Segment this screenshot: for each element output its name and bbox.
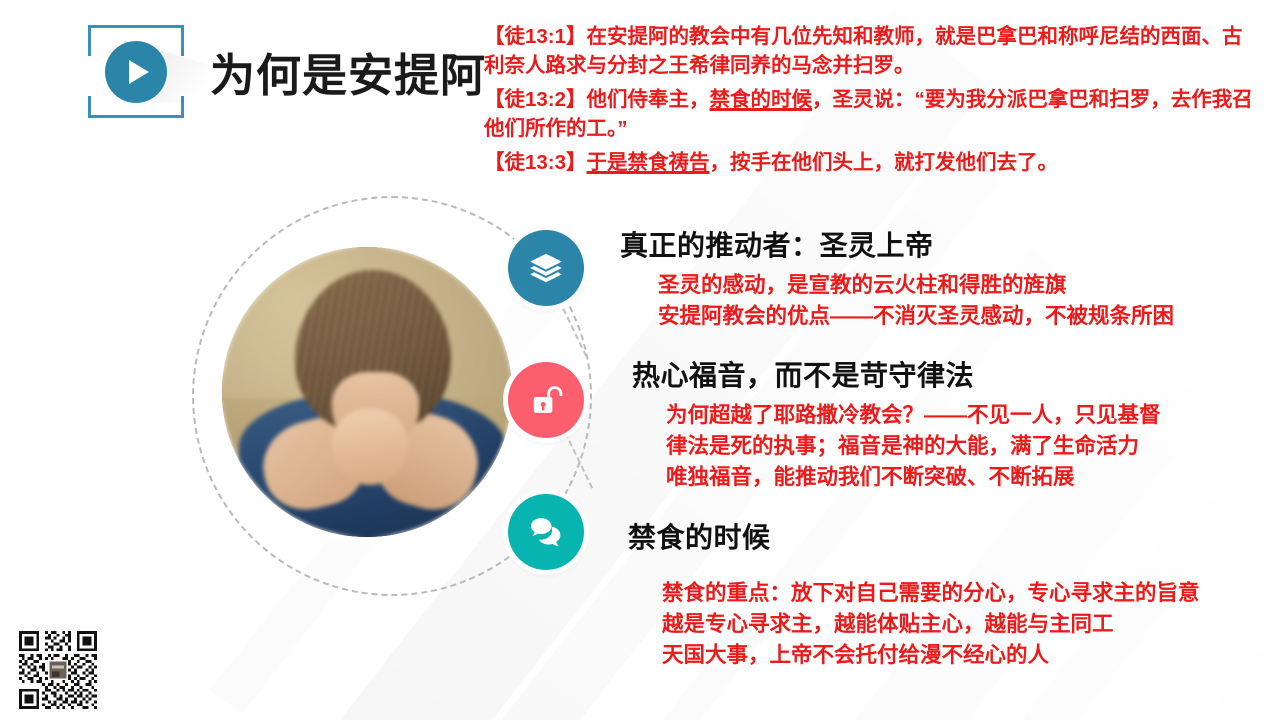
section-line: 天国大事，上帝不会托付给漫不经心的人 xyxy=(662,640,1200,671)
chat-bubbles-icon-glyph xyxy=(527,513,565,551)
logo-frame xyxy=(88,25,184,118)
section-line: 越是专心寻求主，越能体贴主心，越能与主同工 xyxy=(662,609,1200,640)
verse-ref: 【徒13:1】 xyxy=(484,25,587,48)
section-line: 为何超越了耶路撒冷教会？——不见一人，只见基督 xyxy=(666,400,1161,431)
chat-bubbles-icon[interactable] xyxy=(508,494,584,570)
page-title: 为何是安提阿 xyxy=(210,39,486,104)
section-line: 圣灵的感动，是宣教的云火柱和得胜的旌旗 xyxy=(658,270,1174,301)
play-triangle-icon xyxy=(129,60,149,84)
section-heading: 热心福音，而不是苛守律法 xyxy=(632,354,1161,394)
verse-ref: 【徒13:2】 xyxy=(484,88,587,111)
section-lines: 禁食的重点：放下对自己需要的分心，专心寻求主的旨意 越是专心寻求主，越能体贴主心… xyxy=(662,578,1200,672)
content-section: 真正的推动者：圣灵上帝 圣灵的感动，是宣教的云火柱和得胜的旌旗 安提阿教会的优点… xyxy=(616,224,1174,332)
verse-text-underlined: 于是禁食祷告 xyxy=(587,151,710,174)
scripture-verse: 【徒13:3】于是禁食祷告，按手在他们头上，就打发他们去了。 xyxy=(484,148,1254,177)
content-section: 热心福音，而不是苛守律法 为何超越了耶路撒冷教会？——不见一人，只见基督 律法是… xyxy=(616,354,1161,494)
section-heading: 禁食的时候 xyxy=(628,516,1200,556)
qr-code[interactable] xyxy=(16,628,100,712)
slide-canvas: 为何是安提阿 【徒13:1】在安提阿的教会中有几位先知和教师，就是巴拿巴和称呼尼… xyxy=(0,0,1280,720)
verse-ref: 【徒13:3】 xyxy=(484,151,587,174)
photo-artwork xyxy=(222,247,512,537)
slide-header: 为何是安提阿 xyxy=(88,25,486,118)
qr-code-glyph xyxy=(16,628,100,712)
praying-child-photo xyxy=(222,247,512,537)
content-section: 禁食的时候 禁食的重点：放下对自己需要的分心，专心寻求主的旨意 越是专心寻求主，… xyxy=(616,516,1200,672)
layers-icon-glyph xyxy=(527,249,565,287)
section-lines: 为何超越了耶路撒冷教会？——不见一人，只见基督 律法是死的执事；福音是神的大能，… xyxy=(666,400,1161,494)
unlock-icon-glyph xyxy=(527,381,565,419)
photo-blur-overlay xyxy=(222,247,512,537)
scripture-block: 【徒13:1】在安提阿的教会中有几位先知和教师，就是巴拿巴和称呼尼结的西面、古利… xyxy=(484,22,1254,183)
verse-text: 在安提阿的教会中有几位先知和教师，就是巴拿巴和称呼尼结的西面、古利奈人路求与分封… xyxy=(484,25,1243,77)
section-line: 安提阿教会的优点——不消灭圣灵感动，不被规条所困 xyxy=(658,301,1174,332)
verse-text-underlined: 禁食的时候 xyxy=(710,88,813,111)
section-heading: 真正的推动者：圣灵上帝 xyxy=(620,224,1174,264)
unlock-icon[interactable] xyxy=(508,362,584,438)
section-lines: 圣灵的感动，是宣教的云火柱和得胜的旌旗 安提阿教会的优点——不消灭圣灵感动，不被… xyxy=(658,270,1174,332)
verse-text: 他们侍奉主， xyxy=(587,88,710,111)
play-circle-icon xyxy=(105,41,167,103)
section-line: 禁食的重点：放下对自己需要的分心，专心寻求主的旨意 xyxy=(662,578,1200,609)
verse-text: ，按手在他们头上，就打发他们去了。 xyxy=(710,151,1059,174)
scripture-verse: 【徒13:1】在安提阿的教会中有几位先知和教师，就是巴拿巴和称呼尼结的西面、古利… xyxy=(484,22,1254,80)
section-line: 律法是死的执事；福音是神的大能，满了生命活力 xyxy=(666,431,1161,462)
section-line: 唯独福音，能推动我们不断突破、不断拓展 xyxy=(666,462,1161,493)
layers-icon[interactable] xyxy=(508,230,584,306)
scripture-verse: 【徒13:2】他们侍奉主，禁食的时候，圣灵说：“要为我分派巴拿巴和扫罗，去作我召… xyxy=(484,85,1254,143)
